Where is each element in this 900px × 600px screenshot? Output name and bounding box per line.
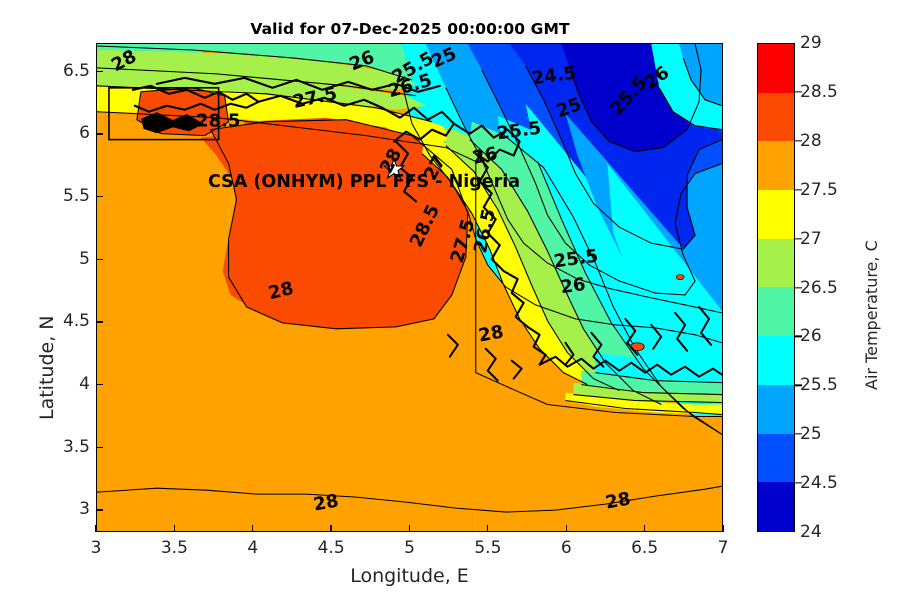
y-tick-mark [96,509,103,510]
x-tick-mark [174,525,175,532]
x-tick-label: 5 [380,538,440,558]
map-plot-area[interactable] [96,43,723,532]
contour-map-figure: Valid for 07-Dec-2025 00:00:00 GMT [0,0,900,600]
colorbar-band [758,190,794,239]
y-tick-mark [96,133,103,134]
colorbar-tick-mark [795,287,802,288]
x-tick-mark [252,525,253,532]
colorbar-band [758,336,794,385]
figure-title: Valid for 07-Dec-2025 00:00:00 GMT [0,20,820,38]
y-tick-mark [96,196,103,197]
colorbar-tick-mark [795,385,802,386]
x-tick-mark [95,525,96,532]
x-axis-label: Longitude, E [96,565,723,587]
x-tick-mark [722,525,723,532]
colorbar-label: Air Temperature, C [862,240,881,390]
colorbar-tick-label: 24.5 [800,473,838,493]
x-tick-label: 3.5 [144,538,204,558]
colorbar-band [758,482,794,531]
colorbar-tick-label: 28 [800,131,822,151]
y-tick-mark [96,321,103,322]
colorbar-band [758,93,794,142]
colorbar-band [758,44,794,93]
colorbar-tick-mark [795,189,802,190]
x-tick-label: 7 [693,538,753,558]
y-tick-mark [96,447,103,448]
colorbar-tick-label: 24 [800,522,822,542]
colorbar[interactable] [757,43,795,532]
y-tick-mark [96,71,103,72]
y-tick-label: 5.5 [44,186,90,206]
y-tick-mark [96,384,103,385]
x-tick-mark [409,525,410,532]
x-tick-label: 6 [536,538,596,558]
star-marker [383,158,405,180]
colorbar-band [758,239,794,288]
y-tick-label: 5 [44,249,90,269]
colorbar-tick-label: 29 [800,33,822,53]
y-tick-label: 6.5 [44,61,90,81]
colorbar-tick-label: 27.5 [800,180,838,200]
y-tick-mark [96,259,103,260]
colorbar-band [758,141,794,190]
colorbar-tick-label: 26 [800,326,822,346]
y-tick-label: 3 [44,499,90,519]
colorbar-tick-label: 27 [800,229,822,249]
colorbar-tick-mark [795,140,802,141]
colorbar-tick-mark [795,482,802,483]
colorbar-tick-mark [795,91,802,92]
y-tick-label: 3.5 [44,437,90,457]
colorbar-tick-label: 28.5 [800,82,838,102]
y-tick-label: 6 [44,123,90,143]
x-tick-label: 6.5 [615,538,675,558]
contour-field [97,44,722,531]
x-tick-mark [644,525,645,532]
colorbar-tick-mark [795,238,802,239]
x-tick-label: 4 [223,538,283,558]
colorbar-tick-label: 26.5 [800,278,838,298]
x-tick-label: 3 [66,538,126,558]
colorbar-band [758,287,794,336]
colorbar-band [758,385,794,434]
colorbar-tick-label: 25 [800,424,822,444]
x-tick-mark [566,525,567,532]
x-tick-mark [330,525,331,532]
colorbar-tick-mark [795,336,802,337]
y-axis-label: Latitude, N [36,316,58,421]
colorbar-tick-mark [795,434,802,435]
x-tick-mark [487,525,488,532]
x-tick-label: 4.5 [301,538,361,558]
x-tick-label: 5.5 [458,538,518,558]
colorbar-band [758,434,794,483]
colorbar-tick-label: 25.5 [800,375,838,395]
